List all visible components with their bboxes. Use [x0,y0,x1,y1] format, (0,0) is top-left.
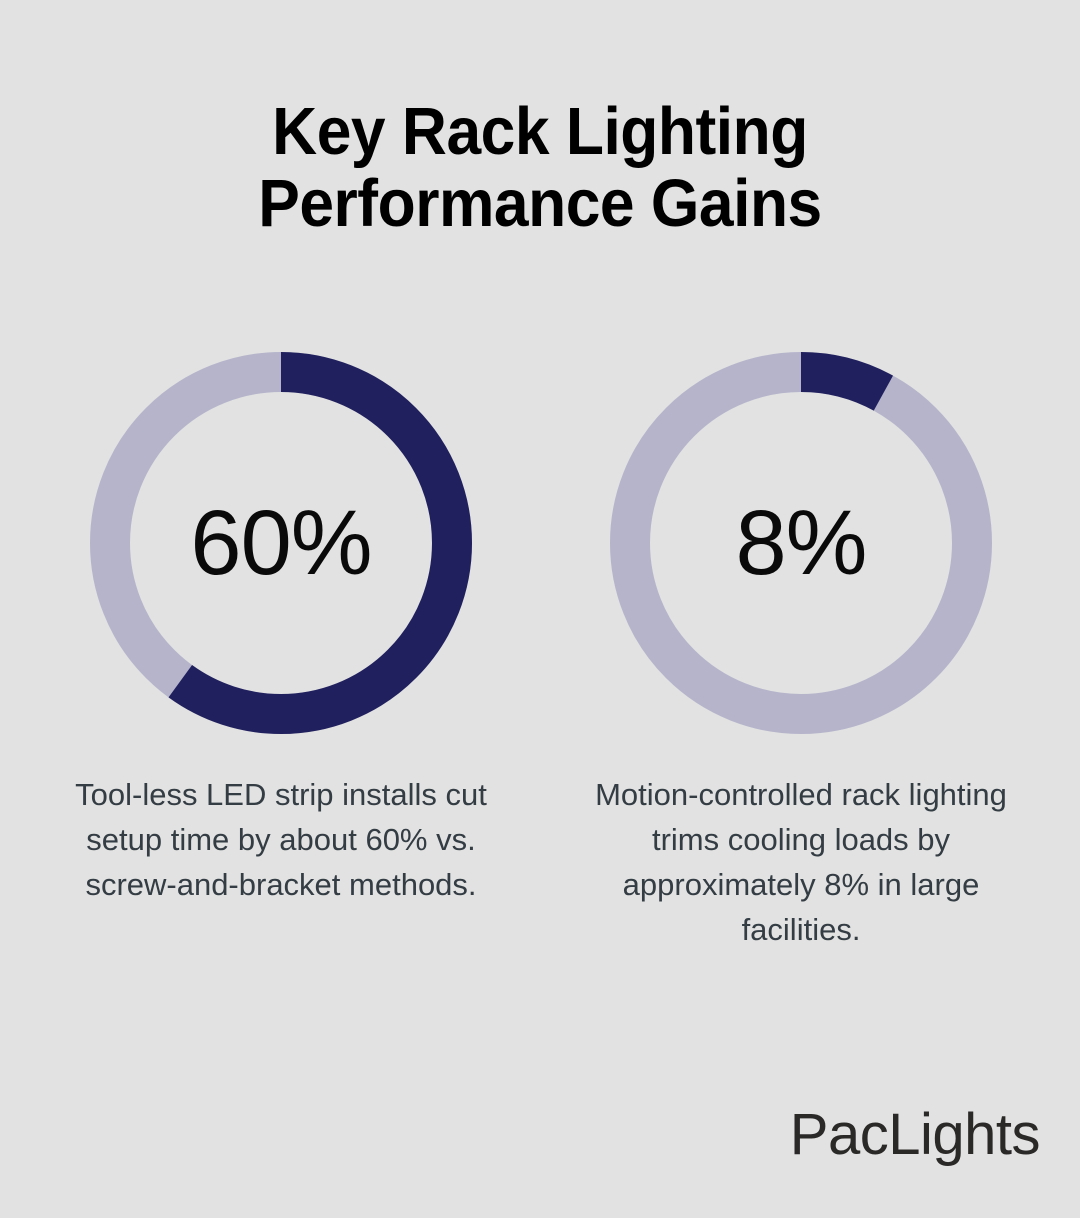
caption-block-2: Motion-controlled rack lighting trims co… [541,772,1061,952]
caption-text-1: Tool-less LED strip installs cut setup t… [46,772,516,907]
caption-text-2: Motion-controlled rack lighting trims co… [566,772,1036,952]
infographic-page: { "title": { "line1": "Key Rack Lighting… [0,0,1080,1218]
caption-row: Tool-less LED strip installs cut setup t… [0,772,1080,992]
donut-chart-2: 8% [610,352,992,734]
metric-column-2: 8% [541,352,1061,742]
page-title: Key Rack Lighting Performance Gains [0,96,1080,240]
donut-chart-row: 60% 8% [0,352,1080,742]
brand-logo: PacLights [790,1104,1040,1166]
page-title-line-1: Key Rack Lighting [38,96,1042,168]
caption-block-1: Tool-less LED strip installs cut setup t… [21,772,541,907]
donut-chart-1-svg [90,352,472,734]
donut-track-2 [630,372,972,714]
page-title-line-2: Performance Gains [38,168,1042,240]
donut-chart-1: 60% [90,352,472,734]
metric-column-1: 60% [21,352,541,742]
donut-chart-2-svg [610,352,992,734]
